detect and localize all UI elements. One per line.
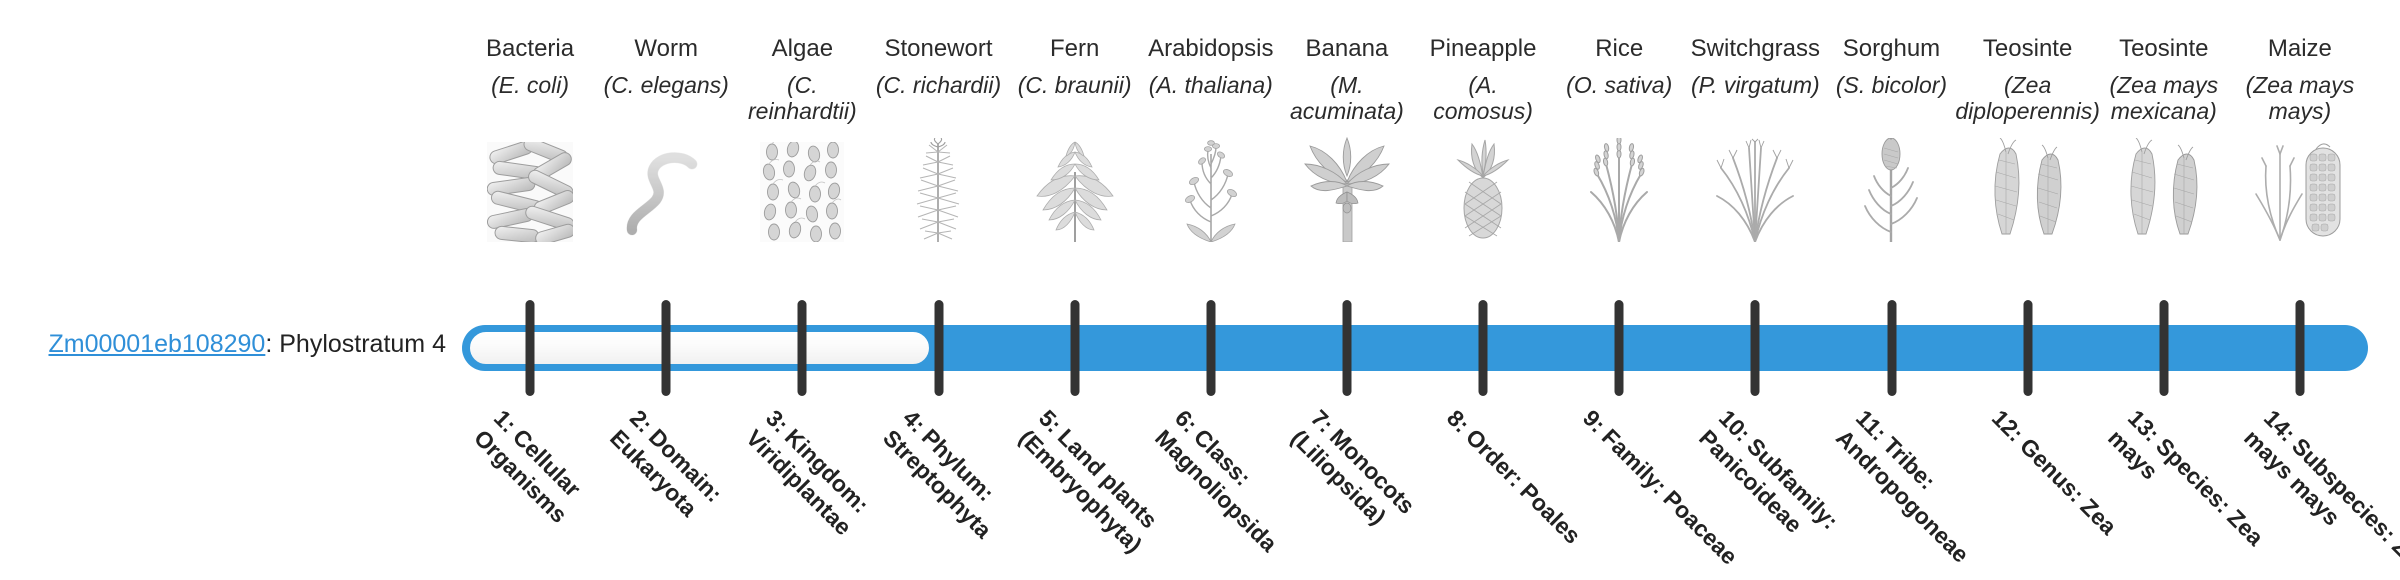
phylostratum-tick[interactable]: [798, 300, 807, 396]
phylostratum-tick[interactable]: [1206, 300, 1215, 396]
species-column: Stonewort(C. richardii): [870, 30, 1006, 242]
species-scientific-name: (S. bicolor): [1835, 72, 1948, 132]
species-scientific-name: (C. braunii): [1017, 72, 1133, 132]
species-scientific-name: (M. acuminata): [1281, 72, 1413, 132]
species-common-name: Algae: [772, 30, 833, 68]
phylostratum-taxon: Poaceae: [1659, 485, 1743, 569]
species-scientific-name: (E. coli): [490, 72, 570, 132]
phylostratum-taxon: Zea: [2075, 493, 2121, 539]
arabidopsis-plant-icon: [1178, 134, 1244, 242]
species-column: Bacteria(E. coli): [462, 30, 598, 242]
phylostratum-tick[interactable]: [526, 300, 535, 396]
phylostratum-tick[interactable]: [934, 300, 943, 396]
species-column: Fern(C. braunii): [1007, 30, 1143, 242]
algae-cells-icon: [760, 134, 844, 242]
nematode-worm-icon: [620, 134, 712, 242]
teosinte-ears-icon: [2116, 134, 2212, 242]
species-strip: Bacteria(E. coli) Worm(C. elegans) Algae…: [462, 30, 2368, 300]
teosinte-ears-icon: [1980, 134, 2076, 242]
species-column: Rice(O. sativa): [1551, 30, 1687, 242]
switchgrass-icon: [1713, 134, 1797, 242]
species-column: Teosinte(Zea mays mexicana): [2096, 30, 2232, 242]
sorghum-plant-icon: [1858, 134, 1924, 242]
phylostratum-rank: Order:: [1461, 424, 1529, 492]
species-common-name: Banana: [1306, 30, 1389, 68]
species-common-name: Teosinte: [1983, 30, 2072, 68]
phylostratum-figure: Zm00001eb108290: Phylostratum 4 Bacteria…: [0, 0, 2400, 580]
species-scientific-name: (P. virgatum): [1690, 72, 1821, 132]
species-common-name: Stonewort: [884, 30, 992, 68]
species-column: Algae(C. reinhardtii): [734, 30, 870, 242]
phylostratum-tick[interactable]: [1342, 300, 1351, 396]
maize-ear-icon: [2254, 134, 2346, 242]
species-common-name: Worm: [634, 30, 698, 68]
phylostratum-tick[interactable]: [1615, 300, 1624, 396]
species-scientific-name: (C. reinhardtii): [736, 72, 868, 132]
banana-tree-icon: [1304, 134, 1390, 242]
phylostratum-progress-bar[interactable]: [462, 325, 2368, 371]
phylostratum-tick[interactable]: [1887, 300, 1896, 396]
species-common-name: Bacteria: [486, 30, 574, 68]
phylostratum-tick[interactable]: [1070, 300, 1079, 396]
species-common-name: Fern: [1050, 30, 1099, 68]
phylostratum-tick[interactable]: [662, 300, 671, 396]
gene-label-separator: :: [265, 330, 279, 358]
rice-plant-icon: [1579, 134, 1659, 242]
stonewort-icon: [903, 134, 973, 242]
species-common-name: Sorghum: [1843, 30, 1940, 68]
phylostratum-taxon: Poales: [1515, 478, 1586, 549]
species-column: Worm(C. elegans): [598, 30, 734, 242]
species-scientific-name: (A. comosus): [1417, 72, 1549, 132]
species-common-name: Switchgrass: [1691, 30, 1820, 68]
species-column: Pineapple(A. comosus): [1415, 30, 1551, 242]
species-common-name: Teosinte: [2119, 30, 2208, 68]
species-scientific-name: (O. sativa): [1565, 72, 1673, 132]
species-column: Sorghum(S. bicolor): [1823, 30, 1959, 242]
phylostratum-tick[interactable]: [1479, 300, 1488, 396]
phylostratum-rank: Genus:: [2015, 433, 2089, 507]
phylostratum-tick[interactable]: [2295, 300, 2304, 396]
fern-frond-icon: [1029, 134, 1121, 242]
gene-phylostratum-label: Zm00001eb108290: Phylostratum 4: [0, 330, 460, 359]
species-scientific-name: (A. thaliana): [1148, 72, 1274, 132]
species-common-name: Maize: [2268, 30, 2332, 68]
bacteria-rods-icon: [487, 134, 573, 242]
species-column: Switchgrass(P. virgatum): [1687, 30, 1823, 242]
phylostratum-value-text: Phylostratum 4: [279, 330, 446, 358]
species-common-name: Pineapple: [1430, 30, 1537, 68]
phylostratum-number: 12:: [1987, 405, 2029, 447]
species-common-name: Rice: [1595, 30, 1643, 68]
species-column: Arabidopsis(A. thaliana): [1143, 30, 1279, 242]
species-column: Teosinte(Zea diploperennis): [1960, 30, 2096, 242]
phylostratum-tick[interactable]: [2023, 300, 2032, 396]
progress-bar-unfilled-region: [467, 329, 932, 367]
species-scientific-name: (Zea diploperennis): [1954, 72, 2100, 132]
pineapple-icon: [1452, 134, 1514, 242]
species-column: Banana(M. acuminata): [1279, 30, 1415, 242]
phylostratum-rank: Family:: [1597, 424, 1672, 499]
species-scientific-name: (Zea mays mexicana): [2098, 72, 2230, 132]
species-scientific-name: (C. richardii): [875, 72, 1002, 132]
gene-id-link[interactable]: Zm00001eb108290: [48, 330, 265, 358]
phylostratum-tick[interactable]: [1751, 300, 1760, 396]
species-common-name: Arabidopsis: [1148, 30, 1273, 68]
phylostratum-rank: Species:: [2151, 433, 2236, 518]
species-scientific-name: (C. elegans): [603, 72, 730, 132]
phylostratum-tick[interactable]: [2159, 300, 2168, 396]
species-scientific-name: (Zea mays mays): [2234, 72, 2366, 132]
species-column: Maize(Zea mays mays): [2232, 30, 2368, 242]
